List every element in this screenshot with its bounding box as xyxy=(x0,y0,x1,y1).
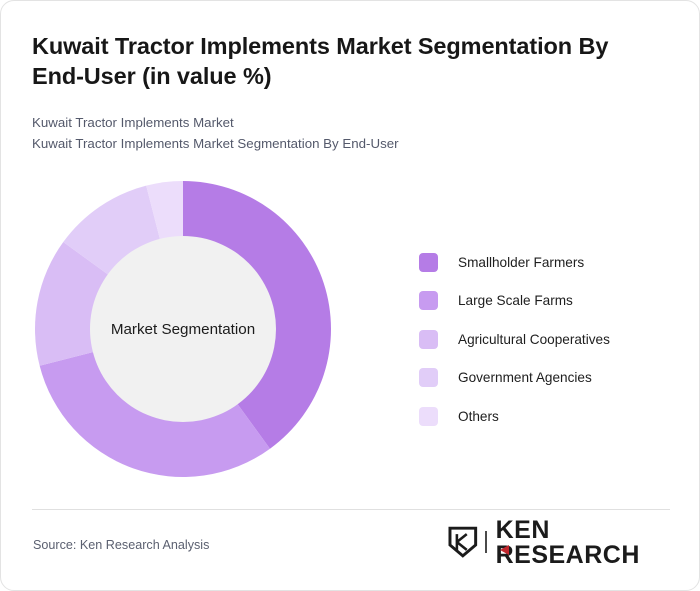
source-note: Source: Ken Research Analysis xyxy=(33,538,209,552)
chart-title: Kuwait Tractor Implements Market Segment… xyxy=(32,31,662,92)
legend-color-swatch xyxy=(419,330,438,349)
chart-plot-area: Market Segmentation Smallholder FarmersL… xyxy=(1,171,700,496)
legend-item-label: Large Scale Farms xyxy=(458,293,573,308)
chart-legend: Smallholder FarmersLarge Scale FarmsAgri… xyxy=(419,243,681,436)
legend-color-swatch xyxy=(419,291,438,310)
logo-wordmark: KEN RESEARCH xyxy=(496,518,699,568)
legend-color-swatch xyxy=(419,407,438,426)
subtitle-line-1: Kuwait Tractor Implements Market xyxy=(32,113,632,134)
footer-divider xyxy=(32,509,670,510)
legend-item[interactable]: Large Scale Farms xyxy=(419,282,681,321)
legend-item-label: Smallholder Farmers xyxy=(458,255,584,270)
chart-card: Kuwait Tractor Implements Market Segment… xyxy=(0,0,700,591)
legend-item[interactable]: Agricultural Cooperatives xyxy=(419,320,681,359)
legend-item[interactable]: Others xyxy=(419,397,681,436)
legend-item-label: Agricultural Cooperatives xyxy=(458,332,610,347)
subtitle-line-2: Kuwait Tractor Implements Market Segment… xyxy=(32,134,632,155)
donut-chart: Market Segmentation xyxy=(33,179,333,479)
ken-research-shield-icon xyxy=(448,526,478,558)
logo-separator xyxy=(485,531,487,553)
logo-red-triangle-icon xyxy=(500,545,509,555)
ken-research-logo: KEN RESEARCH xyxy=(448,525,699,559)
legend-item-label: Others xyxy=(458,409,499,424)
donut-svg xyxy=(33,179,333,479)
chart-subtitles: Kuwait Tractor Implements Market Kuwait … xyxy=(32,113,632,154)
donut-center-disc xyxy=(90,236,276,422)
legend-color-swatch xyxy=(419,368,438,387)
logo-text-label: KEN RESEARCH xyxy=(496,516,640,569)
legend-item[interactable]: Smallholder Farmers xyxy=(419,243,681,282)
legend-color-swatch xyxy=(419,253,438,272)
legend-item[interactable]: Government Agencies xyxy=(419,359,681,398)
legend-item-label: Government Agencies xyxy=(458,370,592,385)
